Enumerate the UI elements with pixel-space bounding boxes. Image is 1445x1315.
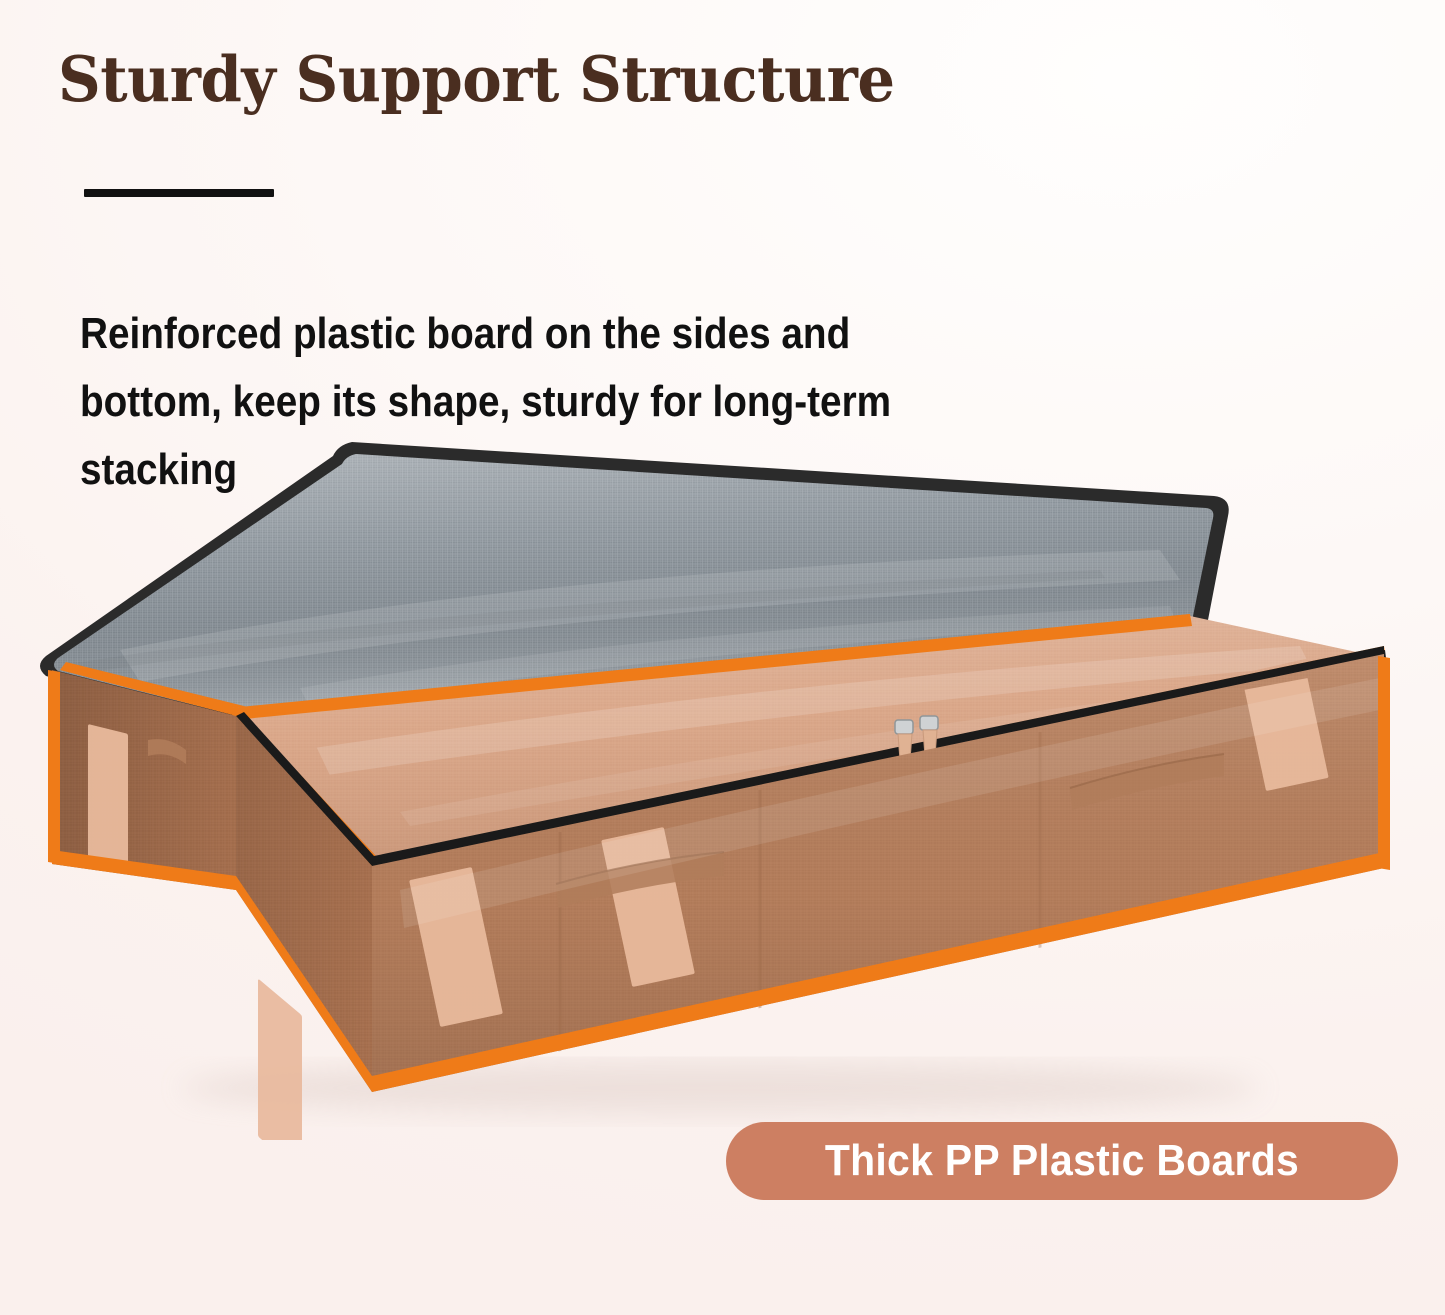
product-illustration [0, 420, 1445, 1140]
feature-badge: Thick PP Plastic Boards [726, 1122, 1398, 1200]
product-shadow [180, 1062, 1260, 1114]
infographic-canvas: Sturdy Support Structure Reinforced plas… [0, 0, 1445, 1315]
feature-badge-label: Thick PP Plastic Boards [825, 1136, 1299, 1186]
left-label-panel [88, 724, 128, 874]
front-corner-label-panel [258, 978, 302, 1140]
page-title: Sturdy Support Structure [58, 44, 1092, 114]
base-orange-trim-right [1378, 656, 1390, 870]
accent-rule-divider [84, 189, 274, 197]
